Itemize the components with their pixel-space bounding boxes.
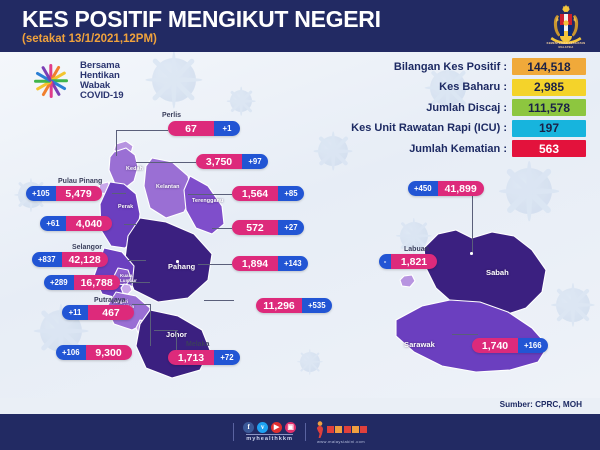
leader-line [130, 282, 150, 283]
social-links-group: f ᴠ ▶ ▣ myhealthkkm [243, 422, 296, 443]
badge-delta: +105 [26, 186, 56, 201]
badge-label-labuan: Labuan [404, 246, 429, 253]
stat-row-total-discharged: Jumlah Discaj : 111,578 [351, 99, 586, 116]
page-title: KES POSITIF MENGIKUT NEGERI [22, 7, 544, 32]
badge-cases: 5,479 [56, 186, 102, 201]
badge-kuala-lumpur[interactable]: +289 16,788 [44, 275, 120, 290]
social-handle: myhealthkkm [246, 434, 293, 442]
source-note: Sumber: CPRC, MOH [500, 400, 582, 409]
badge-terengganu[interactable]: 572 +27 [232, 220, 304, 235]
map-label-sarawak: Sarawak [404, 340, 435, 349]
malaysiakini-blocks [327, 426, 367, 433]
campaign-logo-text: Bersama Hentikan Wabak COVID-19 [80, 61, 123, 102]
instagram-icon[interactable]: ▣ [285, 422, 296, 433]
badge-perak[interactable]: +61 4,040 [40, 216, 112, 231]
badge-cases: 572 [232, 220, 278, 235]
footer-bar: f ᴠ ▶ ▣ myhealthkkm [0, 414, 600, 450]
map-label-terengganu: Terengganu [192, 198, 223, 204]
badge-label-selangor: Selangor [72, 244, 102, 251]
badge-johor[interactable]: 11,296 +535 [256, 298, 332, 313]
badge-delta: +97 [242, 154, 268, 169]
badge-delta: +535 [302, 298, 332, 313]
badge-cases: 11,296 [256, 298, 302, 313]
badge-sabah[interactable]: +450 41,899 [408, 181, 484, 196]
region-shape-sarawak [396, 300, 548, 372]
badge-label-perlis: Perlis [162, 112, 181, 119]
badge-cases: 1,713 [168, 350, 214, 365]
badge-delta: +11 [62, 305, 88, 320]
leader-line [452, 334, 478, 335]
badge-delta: +450 [408, 181, 438, 196]
badge-label-putrajaya: Putrajaya [94, 297, 126, 304]
badge-cases: 9,300 [86, 345, 132, 360]
infographic-root: KES POSITIF MENGIKUT NEGERI (setakat 13/… [0, 0, 600, 450]
map-label-pahang: Pahang [168, 262, 195, 271]
map-pin-dot [470, 252, 473, 255]
stat-row-total-positive-cases: Bilangan Kes Positif : 144,518 [351, 58, 586, 75]
badge-delta: +1 [214, 121, 240, 136]
stat-value-total-discharged: 111,578 [512, 99, 586, 116]
map-label-kelantan: Kelantan [156, 184, 180, 190]
state-shape-terengganu [184, 176, 224, 234]
stat-value-icu-cases: 197 [512, 120, 586, 137]
stat-row-new-cases: Kes Baharu : 2,985 [351, 79, 586, 96]
malaysia-coat-of-arms-icon: KEMENTERIAN KESIHATAN MALAYSIA [544, 3, 588, 49]
map-label-sabah: Sabah [486, 268, 509, 277]
burst-hands-icon [28, 58, 74, 104]
badge-delta: +166 [518, 338, 548, 353]
badge-cases: 467 [88, 305, 134, 320]
footer-divider [305, 423, 306, 441]
leader-line [150, 304, 151, 346]
crest-caption: KEMENTERIAN KESIHATAN MALAYSIA [544, 42, 588, 49]
badge-delta: +289 [44, 275, 74, 290]
leader-line [212, 228, 232, 229]
badge-kedah[interactable]: 3,750 +97 [196, 154, 268, 169]
stat-value-total-positive-cases: 144,518 [512, 58, 586, 75]
state-shape-putrajaya [121, 284, 132, 294]
stat-row-icu-cases: Kes Unit Rawatan Rapi (ICU) : 197 [351, 120, 586, 137]
badge-putrajaya[interactable]: +11 467 [62, 305, 134, 320]
badge-cases: 41,899 [438, 181, 484, 196]
badge-delta: +143 [278, 256, 308, 271]
badge-negeri-sembilan[interactable]: +106 9,300 [56, 345, 132, 360]
badge-cases: 42,128 [62, 252, 108, 267]
stat-label: Kes Unit Rawatan Rapi (ICU) : [351, 122, 507, 134]
youtube-icon[interactable]: ▶ [271, 422, 282, 433]
malaysiakini-logo[interactable]: www.malaysiakini.com [315, 421, 367, 444]
map-label-kedah: Kedah [126, 166, 143, 172]
leader-line [116, 130, 117, 156]
leader-line [198, 264, 232, 265]
badge-cases: 3,750 [196, 154, 242, 169]
header-bar: KES POSITIF MENGIKUT NEGERI (setakat 13/… [0, 0, 600, 52]
malaysiakini-url: www.malaysiakini.com [317, 439, 365, 444]
footer-divider [233, 423, 234, 441]
badge-cases: 1,894 [232, 256, 278, 271]
badge-delta: +837 [32, 252, 62, 267]
badge-selangor[interactable]: +837 42,128 [32, 252, 108, 267]
badge-melaka[interactable]: 1,713 +72 [168, 350, 240, 365]
badge-delta: +85 [278, 186, 304, 201]
stat-row-total-deaths: Jumlah Kematian : 563 [351, 140, 586, 157]
stat-label: Bilangan Kes Positif : [394, 61, 507, 73]
badge-cases: 4,040 [66, 216, 112, 231]
leader-line [188, 194, 232, 195]
badge-kelantan[interactable]: 1,564 +85 [232, 186, 304, 201]
badge-labuan[interactable]: - 1,821 [379, 254, 437, 269]
badge-cases: 1,740 [472, 338, 518, 353]
badge-delta: +61 [40, 216, 66, 231]
leader-line [154, 330, 178, 331]
badge-cases: 1,821 [391, 254, 437, 269]
stat-label: Jumlah Discaj : [426, 102, 507, 114]
badge-label-pulau-pinang: Pulau Pinang [58, 178, 102, 185]
map-pin-dot [176, 260, 179, 263]
badge-cases: 16,788 [74, 275, 120, 290]
leader-line [132, 304, 150, 305]
badge-label-melaka: Melaka [186, 341, 209, 348]
map-label-perak: Perak [118, 204, 133, 210]
leader-line [204, 300, 234, 301]
badge-delta: - [379, 254, 391, 269]
leader-line [136, 162, 196, 163]
stat-label: Jumlah Kematian : [409, 143, 507, 155]
leader-line [116, 130, 168, 131]
stat-label: Kes Baharu : [439, 81, 507, 93]
bersama-hentikan-wabak-logo: Bersama Hentikan Wabak COVID-19 [28, 58, 123, 104]
malaysiakini-logo-row [315, 421, 367, 438]
badge-delta: +27 [278, 220, 304, 235]
state-shape-labuan [400, 275, 415, 287]
stat-value-new-cases: 2,985 [512, 79, 586, 96]
header-text-block: KES POSITIF MENGIKUT NEGERI (setakat 13/… [12, 7, 544, 46]
social-icons-row: f ᴠ ▶ ▣ [243, 422, 296, 433]
runner-figure-icon [315, 421, 325, 438]
badge-sarawak[interactable]: 1,740 +166 [472, 338, 548, 353]
summary-stats-panel: Bilangan Kes Positif : 144,518 Kes Bahar… [351, 58, 586, 157]
leader-line [124, 224, 136, 225]
twitter-icon[interactable]: ᴠ [257, 422, 268, 433]
leader-line [112, 193, 126, 194]
badge-delta: +106 [56, 345, 86, 360]
facebook-icon[interactable]: f [243, 422, 254, 433]
badge-pulau-pinang[interactable]: +105 5,479 [26, 186, 102, 201]
badge-cases: 67 [168, 121, 214, 136]
stat-value-total-deaths: 563 [512, 140, 586, 157]
campaign-line-4: COVID-19 [80, 91, 123, 101]
badge-perlis[interactable]: 67 +1 [168, 121, 240, 136]
badge-pahang[interactable]: 1,894 +143 [232, 256, 308, 271]
leader-line [128, 260, 146, 261]
badge-delta: +72 [214, 350, 240, 365]
page-subtitle: (setakat 13/1/2021,12PM) [22, 32, 544, 46]
badge-cases: 1,564 [232, 186, 278, 201]
